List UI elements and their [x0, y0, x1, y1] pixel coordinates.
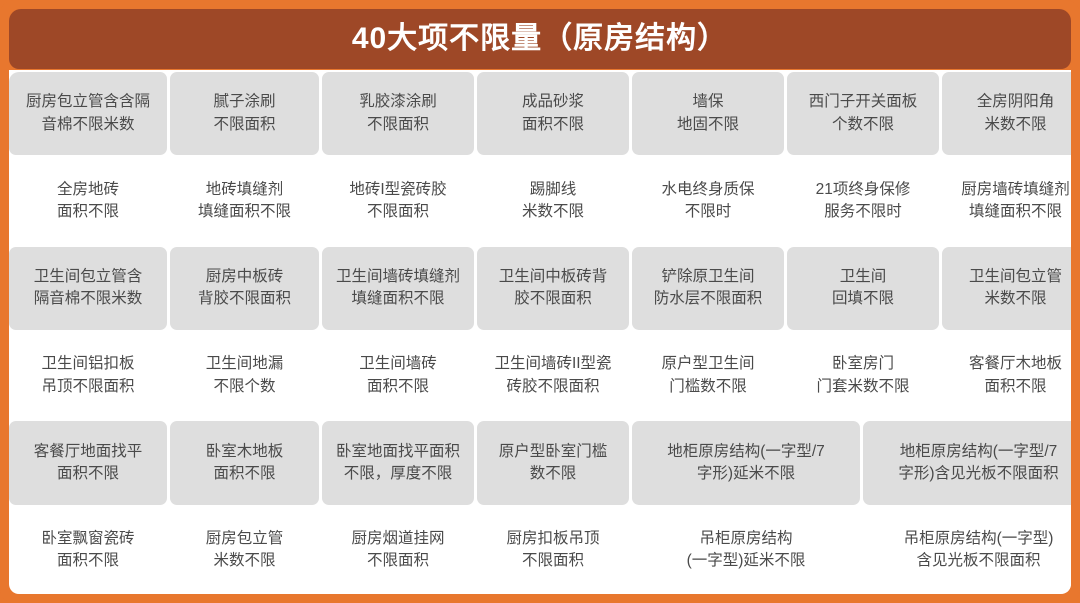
table-cell: 乳胶漆涂刷 不限面积: [322, 72, 474, 155]
page-title: 40大项不限量（原房结构）: [352, 24, 728, 54]
table-cell: 卫生间铝扣板 吊顶不限面积: [9, 334, 167, 417]
table-cell-label: 成品砂浆 面积不限: [522, 91, 584, 136]
table-cell-label: 原户型卫生间 门槛数不限: [661, 353, 754, 398]
table-row: 卧室飘窗瓷砖 面积不限厨房包立管 米数不限厨房烟道挂网 不限面积厨房扣板吊顶 不…: [9, 507, 1071, 594]
table-cell: 地砖I型瓷砖胶 不限面积: [322, 159, 474, 242]
table-cell: 客餐厅木地板 面积不限: [942, 334, 1071, 417]
table-cell-label: 踢脚线 米数不限: [522, 179, 584, 224]
table-cell-label: 21项终身保修 服务不限时: [816, 179, 911, 224]
table-cell-label: 全房阴阳角 米数不限: [977, 91, 1055, 136]
table-cell: 地柜原房结构(一字型/7 字形)含见光板不限面积: [863, 421, 1071, 504]
table-cell-label: 厨房包立管 米数不限: [206, 528, 284, 573]
table-cell-label: 卫生间包立管 米数不限: [969, 266, 1062, 311]
table-cell-label: 卫生间 回填不限: [832, 266, 894, 311]
table-cell-label: 卧室房门 门套米数不限: [816, 353, 909, 398]
table-cell: 卫生间中板砖背 胶不限面积: [477, 247, 629, 330]
table-cell-label: 乳胶漆涂刷 不限面积: [359, 91, 437, 136]
table-cell: 卫生间地漏 不限个数: [170, 334, 319, 417]
table-cell-label: 厨房扣板吊顶 不限面积: [506, 528, 599, 573]
table-cell-label: 吊柜原房结构 (一字型)延米不限: [687, 528, 806, 573]
table-cell-label: 全房地砖 面积不限: [57, 179, 119, 224]
table-cell: 卫生间墙砖 面积不限: [322, 334, 474, 417]
table-cell: 厨房墙砖填缝剂 填缝面积不限: [942, 159, 1071, 242]
table-cell-label: 厨房包立管含含隔 音棉不限米数: [26, 91, 150, 136]
table-cell: 成品砂浆 面积不限: [477, 72, 629, 155]
table-cell: 卫生间包立管含 隔音棉不限米数: [9, 247, 167, 330]
promo-table-frame: 40大项不限量（原房结构） 厨房包立管含含隔 音棉不限米数腻子涂刷 不限面积乳胶…: [0, 0, 1080, 603]
table-cell: 卫生间 回填不限: [787, 247, 939, 330]
table-cell-label: 卫生间墙砖II型瓷 砖胶不限面积: [494, 353, 611, 398]
table-cell-label: 卫生间包立管含 隔音棉不限米数: [34, 266, 143, 311]
table-cell: 腻子涂刷 不限面积: [170, 72, 319, 155]
table-cell: 卫生间墙砖II型瓷 砖胶不限面积: [477, 334, 629, 417]
table-cell: 原户型卧室门槛 数不限: [477, 421, 629, 504]
table-cell: 铲除原卫生间 防水层不限面积: [632, 247, 784, 330]
table-row: 卫生间铝扣板 吊顶不限面积卫生间地漏 不限个数卫生间墙砖 面积不限卫生间墙砖II…: [9, 332, 1071, 419]
table-cell-label: 水电终身质保 不限时: [661, 179, 754, 224]
table-cell: 卫生间包立管 米数不限: [942, 247, 1071, 330]
table-cell-label: 地砖I型瓷砖胶 不限面积: [349, 179, 446, 224]
table-cell-label: 卧室木地板 面积不限: [206, 441, 284, 486]
table-cell-label: 厨房中板砖 背胶不限面积: [198, 266, 291, 311]
table-cell-label: 原户型卧室门槛 数不限: [499, 441, 608, 486]
table-cell-label: 卧室地面找平面积 不限，厚度不限: [336, 441, 460, 486]
table-cell: 地柜原房结构(一字型/7 字形)延米不限: [632, 421, 860, 504]
table-cell-label: 卫生间墙砖填缝剂 填缝面积不限: [336, 266, 460, 311]
benefits-table: 厨房包立管含含隔 音棉不限米数腻子涂刷 不限面积乳胶漆涂刷 不限面积成品砂浆 面…: [9, 70, 1071, 594]
table-cell: 厨房烟道挂网 不限面积: [322, 509, 474, 592]
table-cell: 厨房中板砖 背胶不限面积: [170, 247, 319, 330]
table-cell: 地砖填缝剂 填缝面积不限: [170, 159, 319, 242]
table-row: 客餐厅地面找平 面积不限卧室木地板 面积不限卧室地面找平面积 不限，厚度不限原户…: [9, 419, 1071, 506]
table-cell: 21项终身保修 服务不限时: [787, 159, 939, 242]
table-cell-label: 西门子开关面板 个数不限: [809, 91, 918, 136]
table-cell-label: 地砖填缝剂 填缝面积不限: [198, 179, 291, 224]
page-title-bar: 40大项不限量（原房结构）: [9, 9, 1071, 69]
table-cell: 客餐厅地面找平 面积不限: [9, 421, 167, 504]
table-cell-label: 厨房墙砖填缝剂 填缝面积不限: [961, 179, 1070, 224]
table-cell-label: 卫生间铝扣板 吊顶不限面积: [41, 353, 134, 398]
table-cell-label: 客餐厅地面找平 面积不限: [34, 441, 143, 486]
table-cell: 厨房包立管含含隔 音棉不限米数: [9, 72, 167, 155]
table-cell: 原户型卫生间 门槛数不限: [632, 334, 784, 417]
table-cell: 卧室木地板 面积不限: [170, 421, 319, 504]
table-cell: 踢脚线 米数不限: [477, 159, 629, 242]
table-cell-label: 墙保 地固不限: [677, 91, 739, 136]
table-cell: 墙保 地固不限: [632, 72, 784, 155]
table-cell: 西门子开关面板 个数不限: [787, 72, 939, 155]
table-cell: 厨房包立管 米数不限: [170, 509, 319, 592]
table-row: 卫生间包立管含 隔音棉不限米数厨房中板砖 背胶不限面积卫生间墙砖填缝剂 填缝面积…: [9, 245, 1071, 332]
table-cell: 卫生间墙砖填缝剂 填缝面积不限: [322, 247, 474, 330]
table-cell: 全房阴阳角 米数不限: [942, 72, 1071, 155]
table-cell-label: 腻子涂刷 不限面积: [213, 91, 275, 136]
table-cell: 卧室房门 门套米数不限: [787, 334, 939, 417]
table-cell: 吊柜原房结构 (一字型)延米不限: [632, 509, 860, 592]
table-cell-label: 吊柜原房结构(一字型) 含见光板不限面积: [904, 528, 1054, 573]
table-cell-label: 卫生间中板砖背 胶不限面积: [499, 266, 608, 311]
table-cell-label: 卫生间地漏 不限个数: [206, 353, 284, 398]
table-cell: 全房地砖 面积不限: [9, 159, 167, 242]
table-cell-label: 地柜原房结构(一字型/7 字形)含见光板不限面积: [898, 441, 1058, 486]
table-cell-label: 铲除原卫生间 防水层不限面积: [654, 266, 763, 311]
table-cell-label: 客餐厅木地板 面积不限: [969, 353, 1062, 398]
table-cell-label: 卧室飘窗瓷砖 面积不限: [41, 528, 134, 573]
table-cell: 水电终身质保 不限时: [632, 159, 784, 242]
table-cell: 卧室飘窗瓷砖 面积不限: [9, 509, 167, 592]
table-cell-label: 厨房烟道挂网 不限面积: [351, 528, 444, 573]
table-row: 厨房包立管含含隔 音棉不限米数腻子涂刷 不限面积乳胶漆涂刷 不限面积成品砂浆 面…: [9, 70, 1071, 157]
table-cell: 吊柜原房结构(一字型) 含见光板不限面积: [863, 509, 1071, 592]
table-cell-label: 地柜原房结构(一字型/7 字形)延米不限: [667, 441, 825, 486]
table-cell-label: 卫生间墙砖 面积不限: [359, 353, 437, 398]
table-cell: 卧室地面找平面积 不限，厚度不限: [322, 421, 474, 504]
table-row: 全房地砖 面积不限地砖填缝剂 填缝面积不限地砖I型瓷砖胶 不限面积踢脚线 米数不…: [9, 157, 1071, 244]
table-cell: 厨房扣板吊顶 不限面积: [477, 509, 629, 592]
